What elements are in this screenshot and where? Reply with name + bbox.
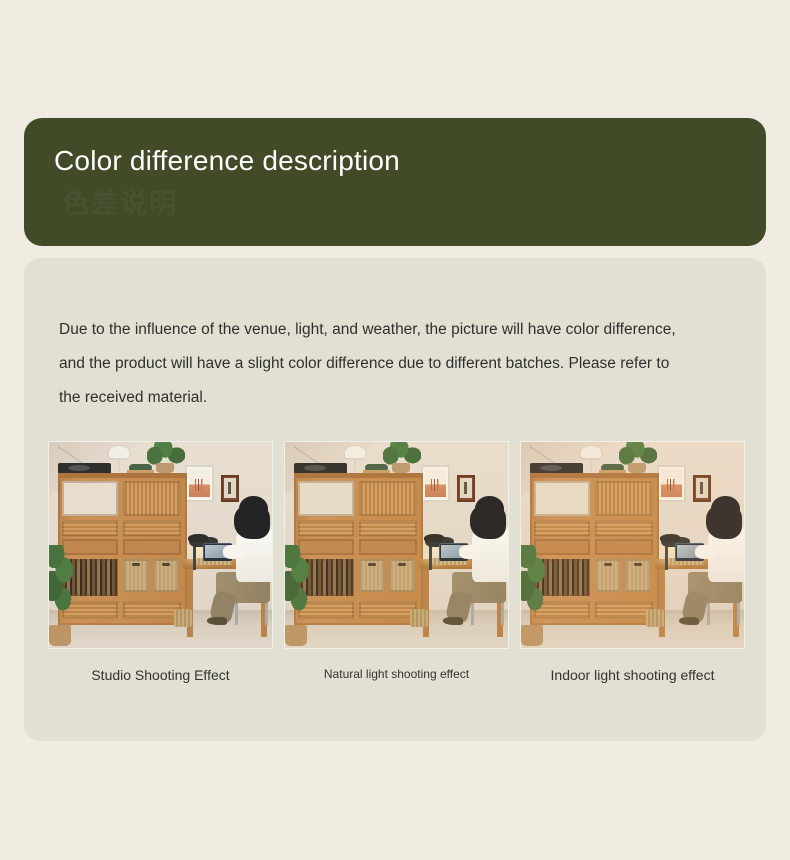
cabinet-basket-2 [153,559,180,592]
floor-plant-leaves [520,545,548,611]
art-figure [700,482,703,494]
person-head [475,496,504,523]
framed-art-small [693,475,711,502]
cabinet-cell-louver-top [359,481,417,516]
floor-plant-leaves [48,545,76,611]
product-photo-studio[interactable] [48,441,273,649]
cabinet-basket-1 [595,559,622,592]
basket-handle [398,563,405,566]
gallery-item[interactable]: Natural light shooting effect [284,441,509,683]
cat [424,534,444,542]
shelf-plant-leaves [619,442,657,465]
gallery-item[interactable]: Studio Shooting Effect [48,441,273,683]
room-scene [521,442,744,648]
cabinet-cell-open-files [62,481,118,516]
cabinet-bottom-louver-right [359,601,417,620]
floor-plant-leaves [284,545,312,611]
shooting-effect-gallery: Studio Shooting Effect [48,441,743,683]
color-difference-page: { "page": { "background_color": "#f0ece1… [0,0,790,860]
art-canvas-small [224,478,236,498]
content-card: Due to the influence of the venue, light… [24,258,766,741]
shelf-plant-pot [156,463,174,473]
art-figure [228,482,231,494]
room-scene [285,442,508,648]
cabinet-basket-1 [123,559,150,592]
cabinet-drawer-louver-left [298,520,354,536]
art-shapes [430,479,442,490]
desk-lamp-arm [193,545,196,570]
cabinet-cell-louver-top [123,481,181,516]
framed-art-large [185,465,214,502]
table-lamp-stem [590,458,592,470]
person-shoe [679,617,699,625]
art-canvas-small [696,478,708,498]
cabinet-cell-louver-top [595,481,653,516]
person-head [711,496,740,523]
table-lamp-shade [109,446,129,458]
cabinet-top-panel [58,473,187,478]
cabinet-drawer-louver-right [359,520,417,536]
basket-handle [132,563,139,566]
cat [188,534,208,542]
art-figure [464,482,467,494]
framed-art-small [457,475,475,502]
cabinet-cell-open-files [298,481,354,516]
cabinet-drawer-louver-right [123,520,181,536]
shelf-plant-leaves [147,442,185,465]
floor-plant-pot [285,625,307,646]
cabinet-drawer-louver-right [595,520,653,536]
person-head [239,496,268,523]
table-lamp-stem [354,458,356,470]
room-scene [49,442,272,648]
art-canvas-small [460,478,472,498]
product-photo-natural[interactable] [284,441,509,649]
cabinet-top-panel [530,473,659,478]
gallery-caption: Indoor light shooting effect [520,667,745,683]
gallery-caption: Natural light shooting effect [284,667,509,681]
basket-handle [634,563,641,566]
cabinet-drawer-right [595,539,653,555]
cabinet-drawer-louver-left [62,520,118,536]
person-arm [459,545,479,559]
art-canvas [661,469,682,497]
person-arm [223,545,243,559]
desk-lamp-arm [665,545,668,570]
cabinet-basket-2 [389,559,416,592]
gallery-caption: Studio Shooting Effect [48,667,273,683]
shelf-plant-pot [628,463,646,473]
cabinet-bottom-louver-right [123,601,181,620]
header-banner: Color difference description 色差说明 [24,118,766,246]
cabinet-basket-1 [359,559,386,592]
cabinet-cell-open-files [534,481,590,516]
person-shoe [207,617,227,625]
floor-plant-pot [49,625,71,646]
framed-art-small [221,475,239,502]
art-canvas [425,469,446,497]
table-lamp-stem [118,458,120,470]
shelf-plant-pot [392,463,410,473]
person-arm [695,545,715,559]
gallery-item[interactable]: Indoor light shooting effect [520,441,745,683]
floor-basket [646,609,664,628]
floor-basket [174,609,192,628]
turntable-platter [68,465,90,471]
color-difference-disclaimer: Due to the influence of the venue, light… [59,313,679,415]
cabinet-drawer-right [123,539,181,555]
cat [660,534,680,542]
basket-handle [368,563,375,566]
art-canvas [189,469,210,497]
cabinet-top-panel [294,473,423,478]
cabinet-drawer-louver-left [534,520,590,536]
basket-handle [162,563,169,566]
product-photo-indoor[interactable] [520,441,745,649]
shelf-plant-leaves [383,442,421,465]
floor-basket [410,609,428,628]
header-ghost-subtitle: 色差说明 [62,182,178,221]
cabinet-basket-2 [625,559,652,592]
framed-art-large [421,465,450,502]
person-shoe [443,617,463,625]
art-shapes [194,479,206,490]
art-shapes [666,479,678,490]
cabinet-bottom-louver-right [595,601,653,620]
page-title: Color difference description [54,145,400,177]
framed-art-large [657,465,686,502]
floor-plant-pot [521,625,543,646]
table-lamp-shade [581,446,601,458]
basket-handle [604,563,611,566]
desk-lamp-arm [429,545,432,570]
table-lamp-shade [345,446,365,458]
turntable-platter [540,465,562,471]
turntable-platter [304,465,326,471]
cabinet-drawer-right [359,539,417,555]
